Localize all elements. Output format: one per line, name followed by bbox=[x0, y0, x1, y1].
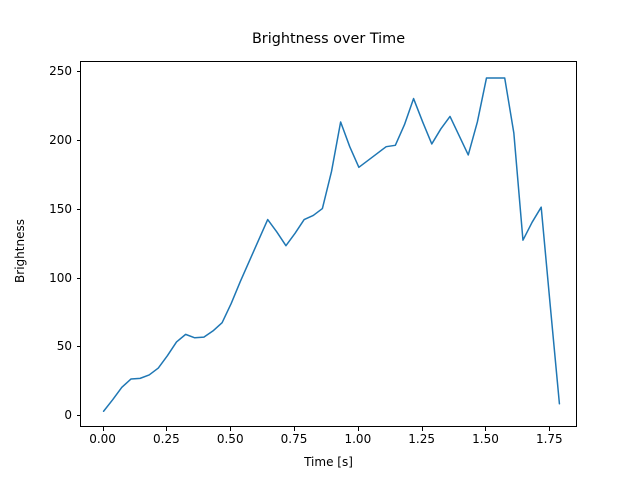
chart-title: Brightness over Time bbox=[80, 30, 577, 48]
x-tick-label: 0.50 bbox=[195, 433, 265, 445]
data-line-chart bbox=[81, 62, 578, 428]
x-tick-label: 1.00 bbox=[323, 433, 393, 445]
x-tick-mark bbox=[549, 427, 550, 431]
x-tick-label: 0.00 bbox=[68, 433, 138, 445]
matplotlib-figure: Brightness over Time Brightness 05010015… bbox=[0, 0, 640, 480]
x-tick-label: 1.75 bbox=[514, 433, 584, 445]
x-tick-mark bbox=[485, 427, 486, 431]
x-tick-label: 1.25 bbox=[387, 433, 457, 445]
x-tick-label: 0.75 bbox=[259, 433, 329, 445]
x-axis-tick-labels: 0.000.250.500.751.001.251.501.75 bbox=[0, 433, 640, 453]
x-tick-mark bbox=[294, 427, 295, 431]
y-axis-tick-marks bbox=[0, 0, 80, 480]
x-tick-mark bbox=[422, 427, 423, 431]
series-line-brightness bbox=[104, 78, 560, 411]
x-tick-label: 1.50 bbox=[450, 433, 520, 445]
x-tick-mark bbox=[103, 427, 104, 431]
x-axis-label: Time [s] bbox=[80, 455, 577, 469]
plot-area bbox=[80, 61, 577, 427]
x-tick-mark bbox=[358, 427, 359, 431]
x-tick-mark bbox=[230, 427, 231, 431]
x-tick-label: 0.25 bbox=[131, 433, 201, 445]
x-tick-mark bbox=[166, 427, 167, 431]
